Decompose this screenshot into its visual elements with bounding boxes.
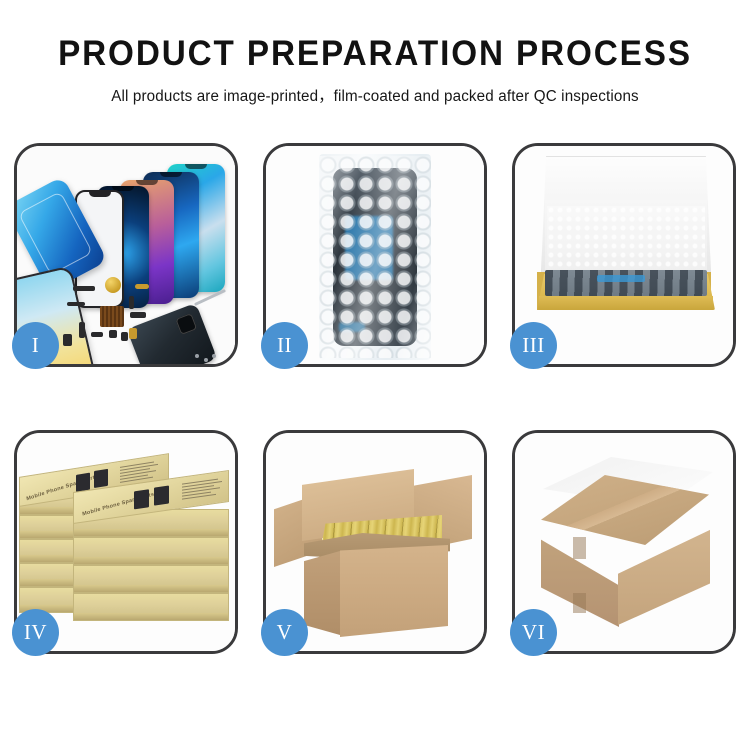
step-badge-vi: VI [510,609,557,656]
logic-chip-part [100,306,124,327]
step-panel-ii: II [263,143,487,367]
step-panel-i: I [14,143,238,367]
packed-parts-row [545,270,707,296]
step-badge-iii: III [510,322,557,369]
page-header: PRODUCT PREPARATION PROCESS All products… [0,0,750,106]
round-gold-part [105,277,121,293]
screws-group [195,354,219,364]
step-panel-iv: Mobile Phone Spare Parts Mobile Phone Sp… [14,430,238,654]
step-badge-ii: II [261,322,308,369]
step-badge-i: I [12,322,59,369]
step-panel-iii: III [512,143,736,367]
step-badge-v: V [261,609,308,656]
carton-body-left [304,551,340,635]
step-panel-v: V [263,430,487,654]
page-subtitle: All products are image-printed，film-coat… [8,84,743,106]
step-badge-iv: IV [12,609,59,656]
foam-liner [547,206,705,278]
box-front-panel [539,296,713,310]
plastic-gloss [319,156,431,358]
step-panel-vi: VI [512,430,736,654]
carton-body-right [340,545,448,637]
process-steps-grid: I II III [14,143,737,683]
page-title: PRODUCT PREPARATION PROCESS [19,36,732,73]
